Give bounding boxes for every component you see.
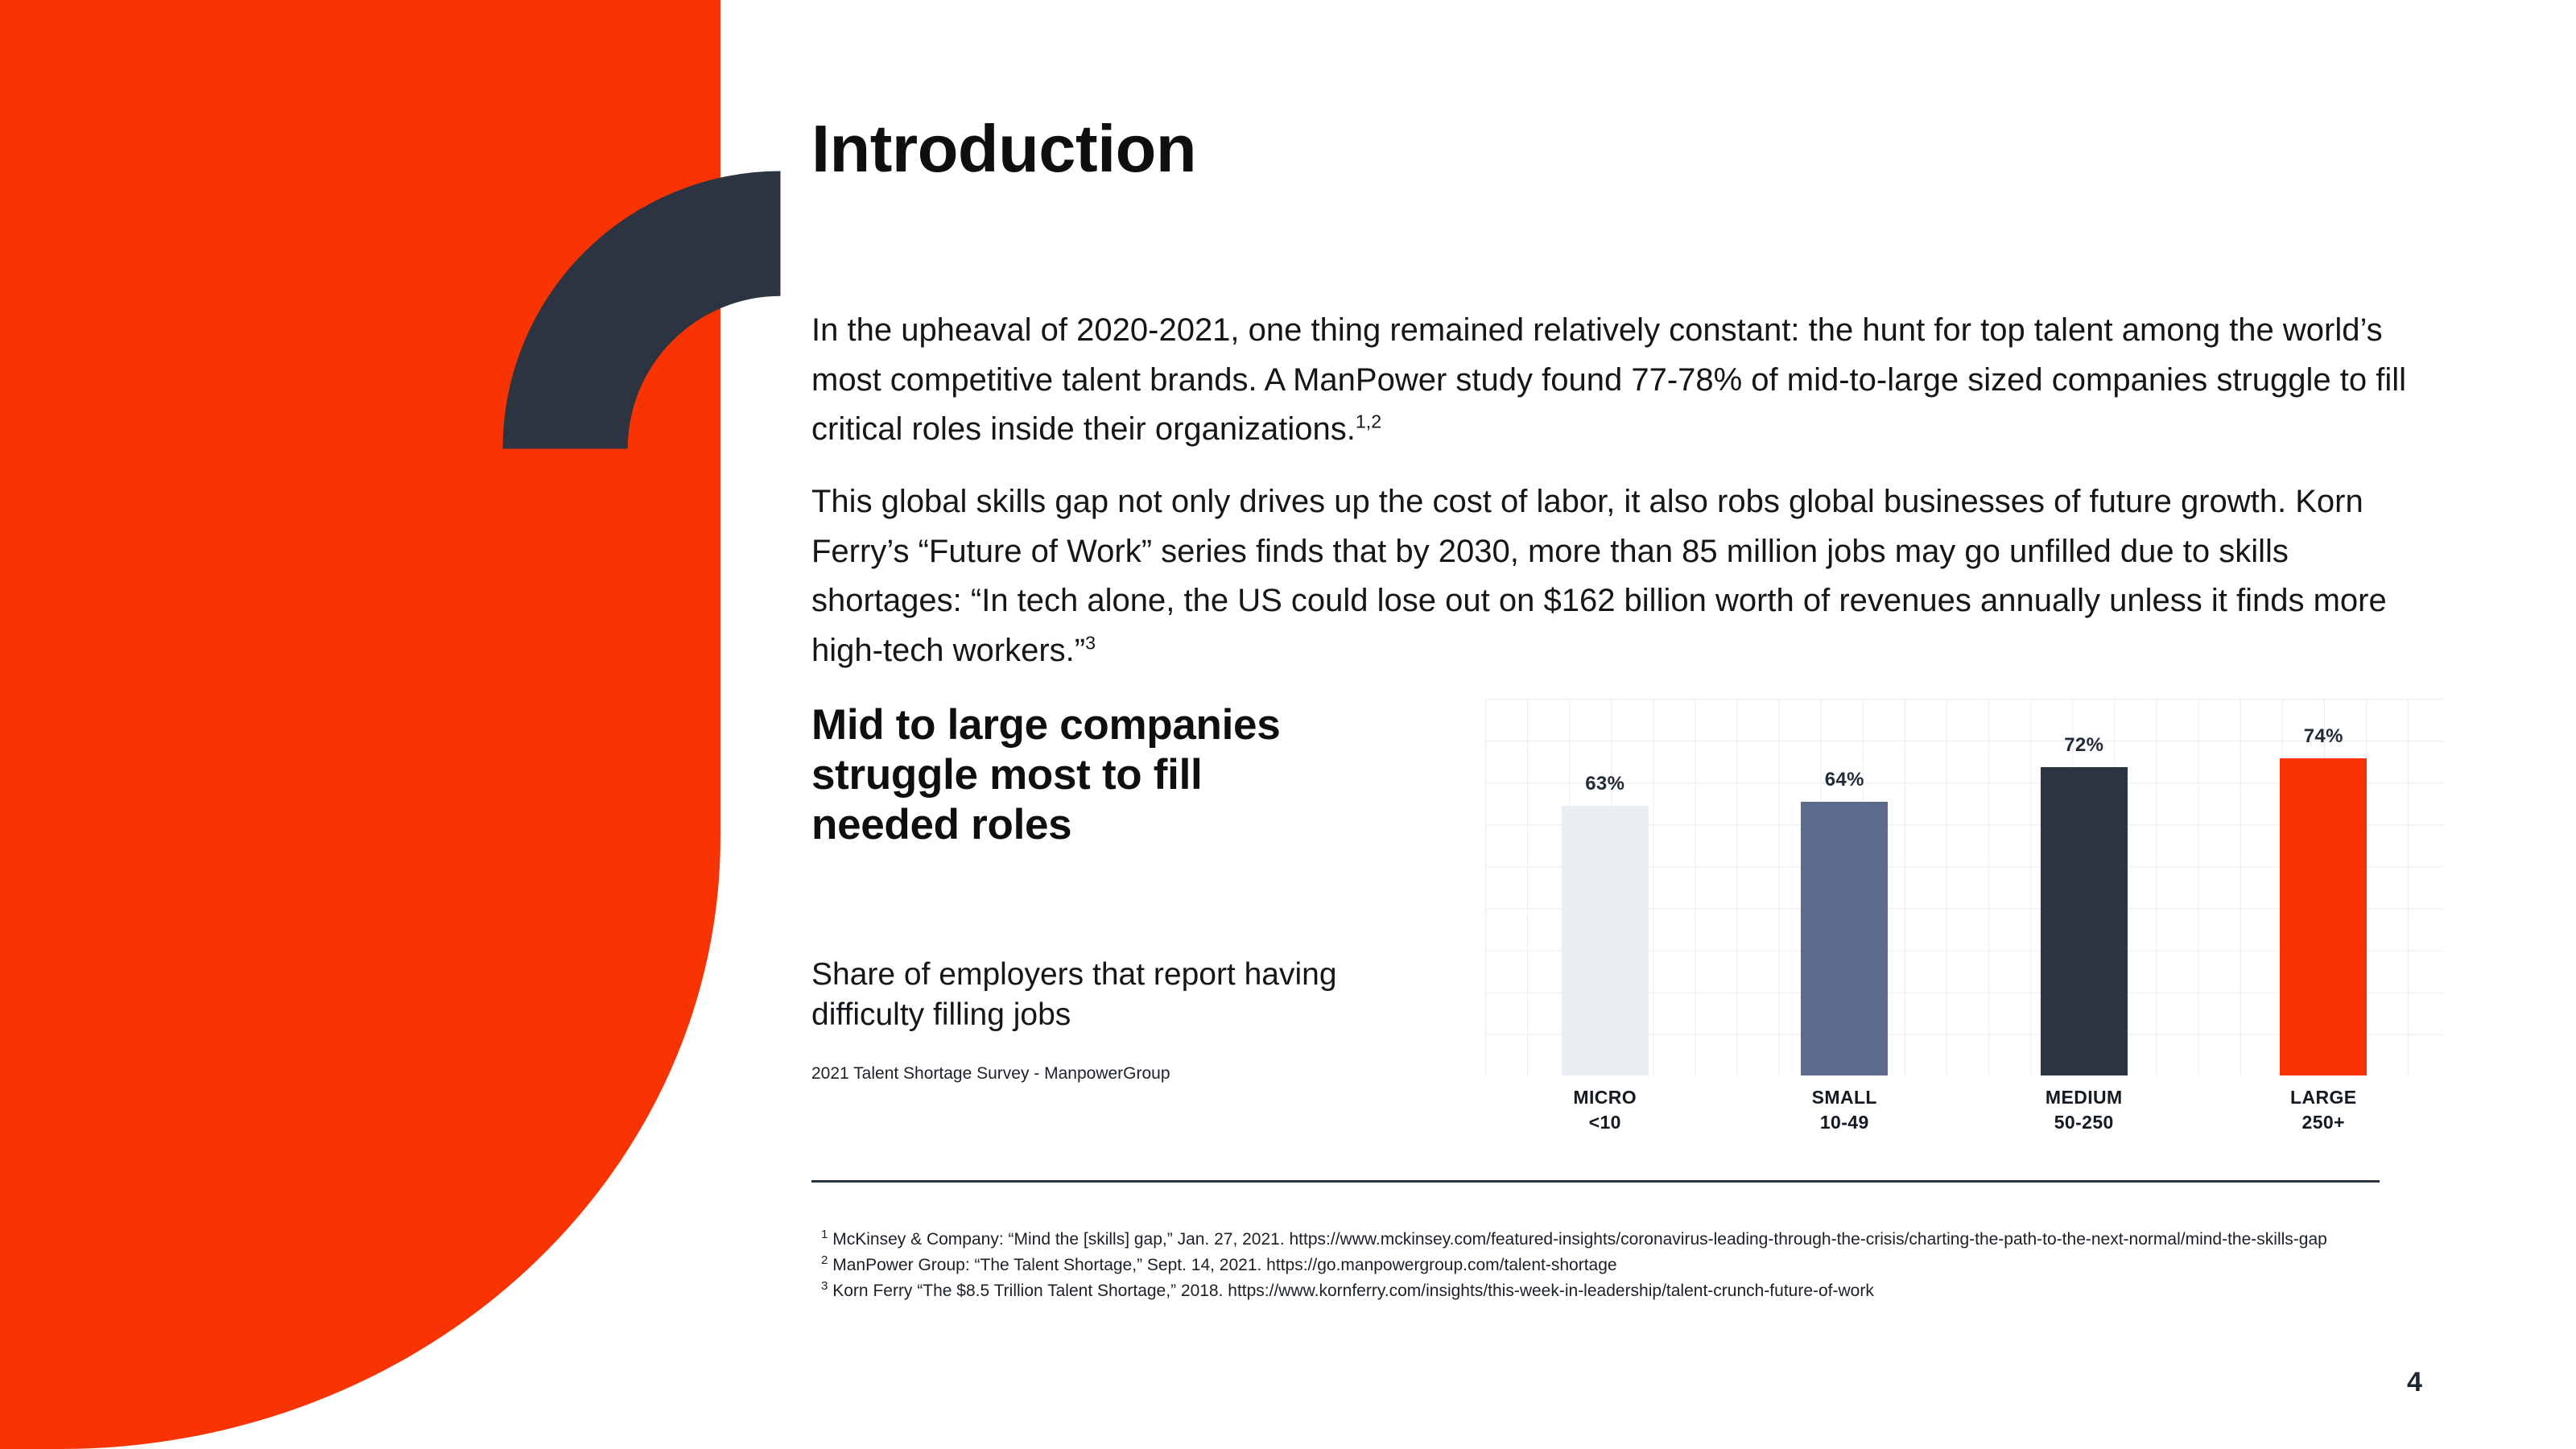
footnote-divider: [811, 1180, 2380, 1183]
intro-paragraph-2-footnote-ref: 3: [1085, 632, 1096, 653]
axis-label-range: 250+: [2204, 1110, 2444, 1135]
bar-value-label: 63%: [1585, 773, 1624, 795]
footnotes-block: 1 McKinsey & Company: “Mind the [skills]…: [821, 1226, 2415, 1302]
chart-x-axis: MICRO<10SMALL10-49MEDIUM50-250LARGE250+: [1485, 1085, 2443, 1135]
chart-bar: 74%: [2280, 758, 2367, 1075]
axis-label-category: SMALL: [1812, 1087, 1877, 1108]
chart-bar: 72%: [2041, 767, 2128, 1075]
chart-bar: 63%: [1562, 806, 1649, 1075]
bar-slot: 74%: [2204, 699, 2444, 1075]
footnote-3-text: Korn Ferry “The $8.5 Trillion Talent Sho…: [832, 1282, 1874, 1300]
footnote-1-text: McKinsey & Company: “Mind the [skills] g…: [832, 1230, 2327, 1249]
intro-paragraph-1-text: In the upheaval of 2020-2021, one thing …: [811, 312, 2406, 447]
page-title: Introduction: [811, 115, 1196, 182]
orange-decor-shape: [0, 0, 720, 1449]
chart-bar: 64%: [1801, 802, 1888, 1075]
intro-paragraph-1: In the upheaval of 2020-2021, one thing …: [811, 306, 2409, 455]
slide-canvas: Introduction In the upheaval of 2020-202…: [0, 0, 2576, 1449]
intro-paragraph-2-text: This global skills gap not only drives u…: [811, 484, 2387, 668]
bar-value-label: 72%: [2064, 734, 2103, 757]
footnote-1: 1 McKinsey & Company: “Mind the [skills]…: [821, 1226, 2415, 1252]
axis-label-range: <10: [1485, 1110, 1725, 1135]
footnote-3: 3 Korn Ferry “The $8.5 Trillion Talent S…: [821, 1278, 2415, 1303]
chart-subhead: Share of employers that report having di…: [811, 955, 1375, 1035]
bar-slot: 63%: [1485, 699, 1725, 1075]
bar-slot: 72%: [1964, 699, 2204, 1075]
intro-paragraph-1-footnote-ref: 1,2: [1356, 411, 1381, 432]
bar-value-label: 74%: [2304, 725, 2343, 748]
intro-paragraph-2: This global skills gap not only drives u…: [811, 477, 2409, 675]
footnote-2: 2 ManPower Group: “The Talent Shortage,”…: [821, 1252, 2415, 1278]
axis-label-small: SMALL10-49: [1725, 1085, 1965, 1135]
footnote-1-marker: 1: [821, 1228, 828, 1241]
axis-label-range: 50-250: [1964, 1110, 2204, 1135]
axis-label-large: LARGE250+: [2204, 1085, 2444, 1135]
axis-label-medium: MEDIUM50-250: [1964, 1085, 2204, 1135]
bar-slot: 64%: [1725, 699, 1965, 1075]
footnote-3-marker: 3: [821, 1279, 828, 1293]
page-number: 4: [2407, 1367, 2422, 1398]
axis-label-category: MICRO: [1573, 1087, 1637, 1108]
chart-source-note: 2021 Talent Shortage Survey - ManpowerGr…: [811, 1064, 1375, 1084]
bar-chart: 63%64%72%74%: [1485, 699, 2443, 1075]
chart-headline: Mid to large companies struggle most to …: [811, 700, 1311, 850]
axis-label-micro: MICRO<10: [1485, 1085, 1725, 1135]
footnote-2-marker: 2: [821, 1253, 828, 1267]
bar-value-label: 64%: [1825, 769, 1864, 791]
axis-label-category: MEDIUM: [2046, 1087, 2123, 1108]
axis-label-category: LARGE: [2290, 1087, 2357, 1108]
footnote-2-text: ManPower Group: “The Talent Shortage,” S…: [832, 1256, 1616, 1274]
axis-label-range: 10-49: [1725, 1110, 1965, 1135]
chart-plot-area: 63%64%72%74%: [1485, 699, 2443, 1075]
